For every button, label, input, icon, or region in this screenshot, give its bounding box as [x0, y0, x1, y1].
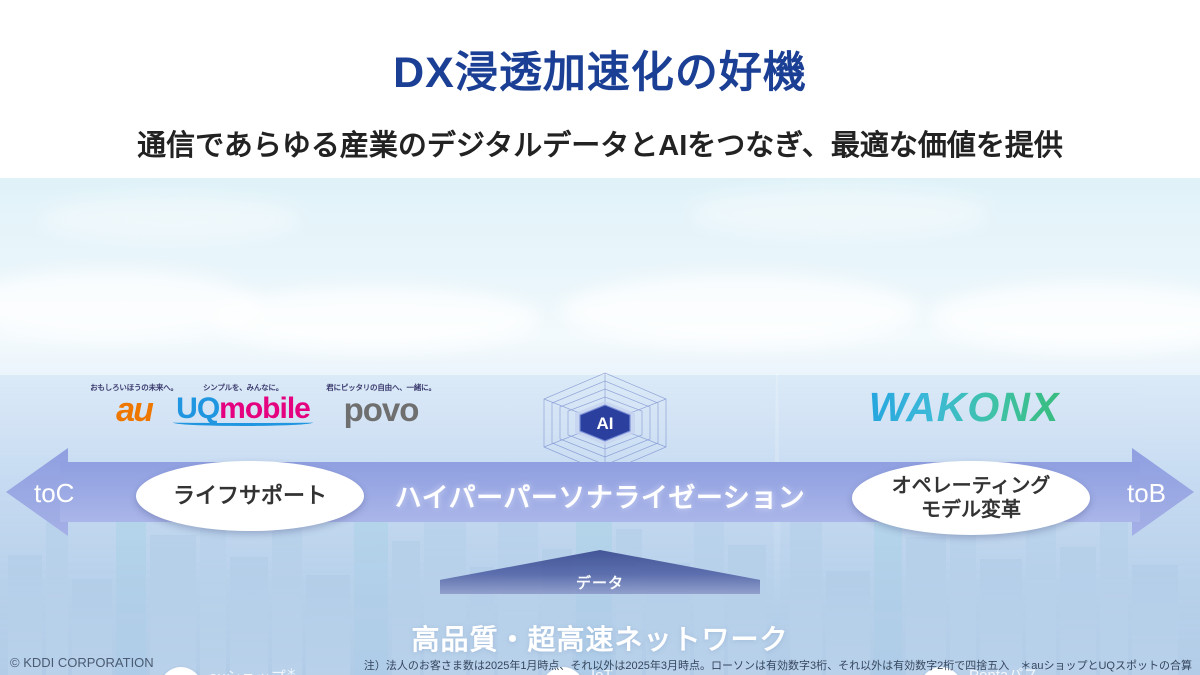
operating-model-line1: オペレーティング — [892, 475, 1051, 497]
cloud-decor — [210, 286, 540, 352]
page-title: DX浸透加速化の好機 — [0, 38, 1200, 100]
stat-text: auショップ＊ 約2,100店舗 — [209, 667, 319, 675]
uq-mark-uq: UQ — [176, 392, 219, 425]
brand-logo-uq-mobile: シンプルを、みんなに。 UQmobile — [158, 382, 328, 426]
cloud-decor — [930, 282, 1200, 352]
shop-icon — [160, 667, 202, 675]
povo-wordmark: povo — [318, 393, 444, 428]
stat-au-shop: auショップ＊ 約2,100店舗 — [160, 667, 319, 675]
uq-wordmark: UQmobile — [158, 393, 328, 425]
ai-badge-label: AI — [597, 414, 614, 433]
stat-label: auショップ＊ — [209, 667, 319, 675]
tob-label: toB — [1127, 478, 1166, 509]
hyper-personalization-label: ハイパーパーソナライゼーション — [380, 476, 820, 515]
network-label: 高品質・超高速ネットワーク — [0, 618, 1200, 658]
brand-logo-povo: 君にピッタリの自由へ、一緒に。 povo — [318, 382, 444, 428]
diagram-panel: おもしろいほうの未来へ。 au シンプルを、みんなに。 UQmobile 君にピ… — [0, 178, 1200, 675]
cloud-decor — [690, 188, 990, 236]
slide-root: DX浸透加速化の好機 通信であらゆる産業のデジタルデータとAIをつなぎ、最適な価… — [0, 0, 1200, 675]
data-arrow-label: データ — [440, 572, 760, 593]
page-subtitle: 通信であらゆる産業のデジタルデータとAIをつなぎ、最適な価値を提供 — [0, 122, 1200, 164]
life-support-oval: ライフサポート — [136, 461, 364, 531]
wakonx-logo: WAKONX — [848, 384, 1080, 431]
operating-model-line2: モデル変革 — [921, 499, 1021, 521]
uq-mark-mobile: mobile — [219, 392, 310, 425]
copyright: © KDDI CORPORATION — [10, 655, 154, 670]
cloud-decor — [560, 274, 920, 348]
toc-label: toC — [34, 478, 74, 509]
operating-model-label: オペレーティング モデル変革 — [892, 474, 1051, 523]
footnote-asterisk: ＊ — [286, 667, 297, 675]
footnote: 注）法人のお客さま数は2025年1月時点、それ以外は2025年3月時点。ローソン… — [364, 657, 1192, 673]
cloud-decor — [40, 196, 300, 240]
operating-model-oval: オペレーティング モデル変革 — [852, 461, 1090, 535]
header: DX浸透加速化の好機 通信であらゆる産業のデジタルデータとAIをつなぎ、最適な価… — [0, 0, 1200, 178]
life-support-label: ライフサポート — [173, 483, 327, 510]
